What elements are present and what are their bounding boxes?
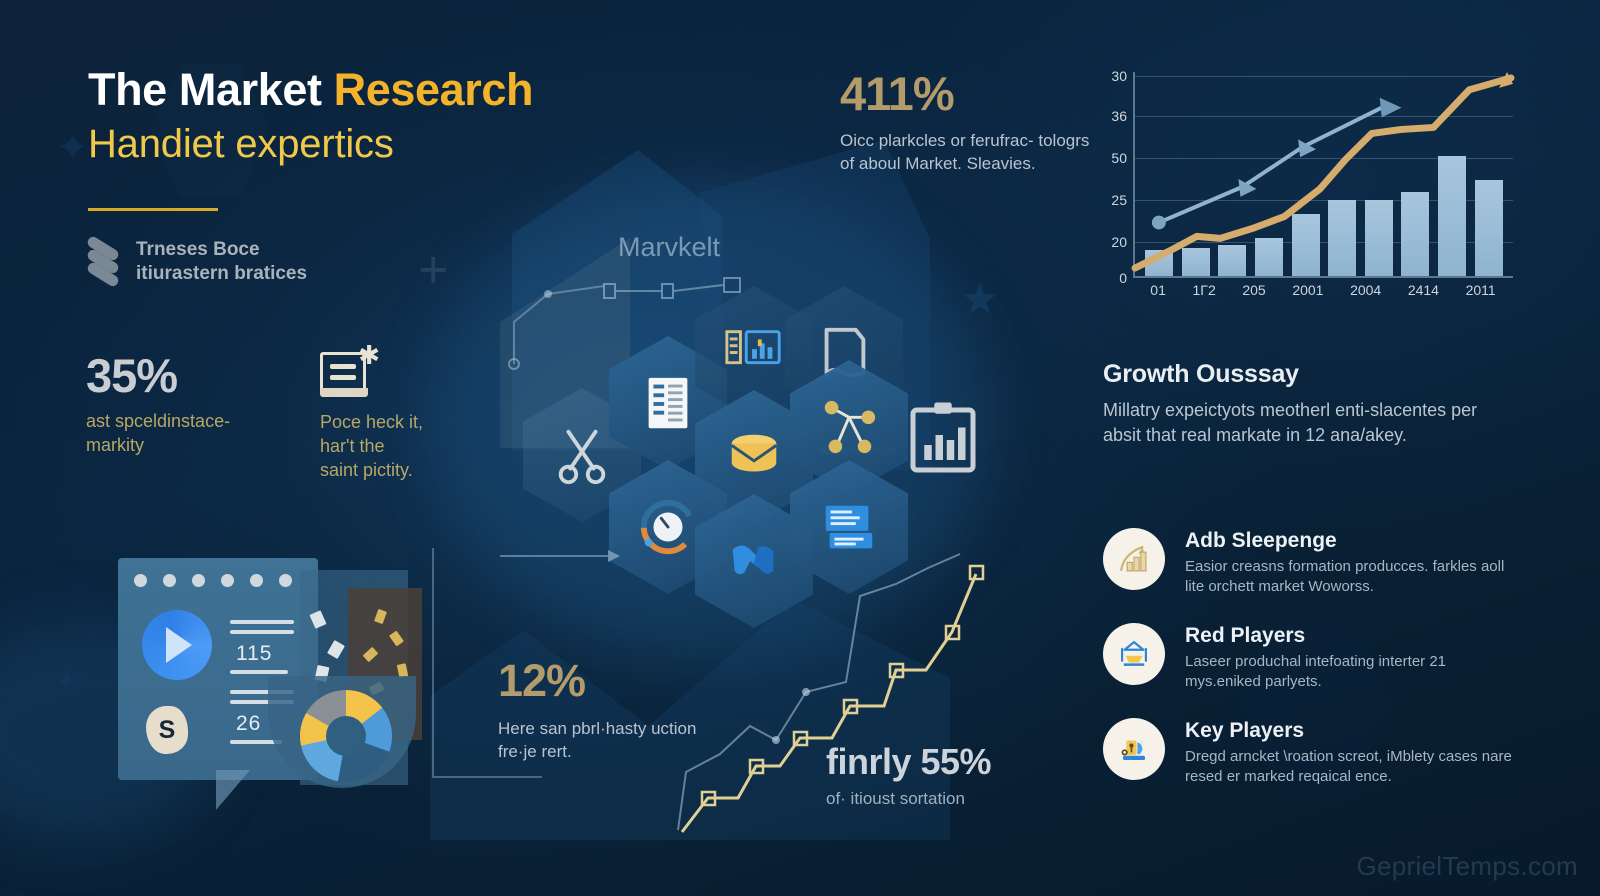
badge-letter: S [146,706,188,754]
headline-line-1: The Market Research [88,66,738,115]
growth-chart-icon [1103,528,1165,590]
x-tick: 205 [1242,282,1265,298]
list-item-desc: Laseer produchal intefoating interter 21… [1185,652,1513,692]
headline-white: The Market [88,64,334,115]
headline-line-2: Handiet expertics [88,121,738,168]
stat-bottom-right-caption: of· itioust sortation [826,788,1056,811]
scissors-icon [551,424,613,486]
list-item-body: Adb Sleepenge Easior creasnѕ formation p… [1185,528,1513,597]
connector-arrow [500,540,630,570]
stat-top-center-caption: Oicc plarkcles or ferufrac- tologrs of a… [840,129,1090,176]
headline-accent: Research [334,64,533,115]
y-tick: 30 [1111,68,1127,84]
x-tick: 2414 [1408,282,1439,298]
book-icon: ✱ [320,348,376,402]
feature-list: Adb Sleepenge Easior creasnѕ formation p… [1103,528,1513,813]
list-item-desc: Dregd arncket \roation screot, iMblety c… [1185,747,1513,787]
key-briefcase-icon [1103,718,1165,780]
server-rack-icon [637,372,699,434]
stat-top-center-value: 411% [840,70,1090,117]
list-item-title: Red Players [1185,623,1513,648]
mock-metric-1: 115 [236,642,272,666]
x-tick: 2001 [1292,282,1323,298]
y-tick: 0 [1119,270,1127,286]
star-icon-1: ✦ [56,128,90,168]
star-icon-3: ✦ [54,668,79,698]
chart-trend-lines [1135,72,1513,276]
mock-metric-2: 26 [236,712,261,736]
hex-clipboard-chart [903,400,983,485]
stat-bottom-right-value: finrly 55% [826,744,1056,780]
bar-chart-document-icon [723,322,785,384]
window-dots [134,574,292,587]
list-item-body: Key Players Dregd arncket \roation screo… [1185,718,1513,787]
stat-prefix: finrly [826,741,921,782]
list-item-title: Adb Sleepenge [1185,528,1513,553]
brand-line-1: Trneses Boce [136,238,307,262]
note-block: ✱ Poce heck it, har't the saint pictity. [320,348,490,482]
market-balance-glyph [1117,637,1151,671]
infographic-canvas: ✦ ★ + ✦ The Market Research Handiet expe… [0,0,1600,896]
list-item-title: Key Players [1185,718,1513,743]
stat-value: 55% [921,741,992,782]
pointer-triangle [216,770,250,810]
growth-body: Millatry expeictyots meotherl enti-slace… [1103,398,1503,448]
mock-line-2 [230,630,294,634]
market-balance-icon [1103,623,1165,685]
stat-bottom-right: finrly 55% of· itioust sortation [826,744,1056,811]
chart-y-axis: 30 36 50 25 20 0 [1093,72,1127,278]
list-item[interactable]: Red Players Laseer produchal intefoating… [1103,623,1513,692]
chart-plot-area [1133,72,1513,278]
stat-left: 35% ast spceldinstace- markity [86,352,301,457]
list-item[interactable]: Adb Sleepenge Easior creasnѕ formation p… [1103,528,1513,597]
x-tick: 2011 [1466,282,1496,298]
database-cylinder-icon [723,426,785,488]
mock-line-1 [230,620,294,624]
brand-tagline-text: Trneses Boce itiurastern bratices [136,238,307,287]
asterisk-icon: ✱ [358,342,380,368]
play-circle-icon [142,610,212,680]
growth-title: Growth Ousssay [1103,360,1503,389]
y-tick: 25 [1111,192,1127,208]
network-nodes-icon [818,396,880,458]
x-tick: 1Γ2 [1192,282,1215,298]
y-tick: 20 [1111,234,1127,250]
brand-line-2: itiurastern bratices [136,262,307,286]
title-divider [88,208,218,211]
clipboard-chart-icon [903,400,983,480]
page-title: The Market Research Handiet expertics [88,66,738,168]
stat-left-value: 35% [86,352,301,399]
y-tick: 36 [1111,108,1127,124]
plus-icon: + [418,244,448,296]
chart-x-axis: 01 1Γ2 205 2001 2004 2414 2011 [1133,282,1513,298]
watermark: GeprielTemps.com [1356,851,1578,882]
x-tick: 01 [1150,282,1166,298]
note-caption: Poce heck it, har't the saint pictity. [320,410,490,482]
donut-chart-icon [300,690,392,782]
list-item-desc: Easior creasnѕ formation producces. fark… [1185,557,1513,597]
slash-stack-icon [86,241,122,283]
stat-left-caption: ast spceldinstace- markity [86,409,301,457]
y-tick: 50 [1111,150,1127,166]
list-item-body: Red Players Laseer produchal intefoating… [1185,623,1513,692]
list-item[interactable]: Key Players Dregd arncket \roation screo… [1103,718,1513,787]
growth-bar-chart: 30 36 50 25 20 0 [1093,72,1513,300]
growth-summary: Growth Ousssay Millatry expeictyots meot… [1103,360,1503,448]
stat-top-center: 411% Oicc plarkcles or ferufrac- tologrs… [840,70,1090,176]
key-briefcase-glyph [1117,732,1151,766]
growth-chart-glyph [1117,542,1151,576]
brand-tagline: Trneses Boce itiurastern bratices [86,238,307,287]
background-word: Marvkelt [618,232,720,263]
x-tick: 2004 [1350,282,1381,298]
mock-underline-1 [230,670,288,674]
